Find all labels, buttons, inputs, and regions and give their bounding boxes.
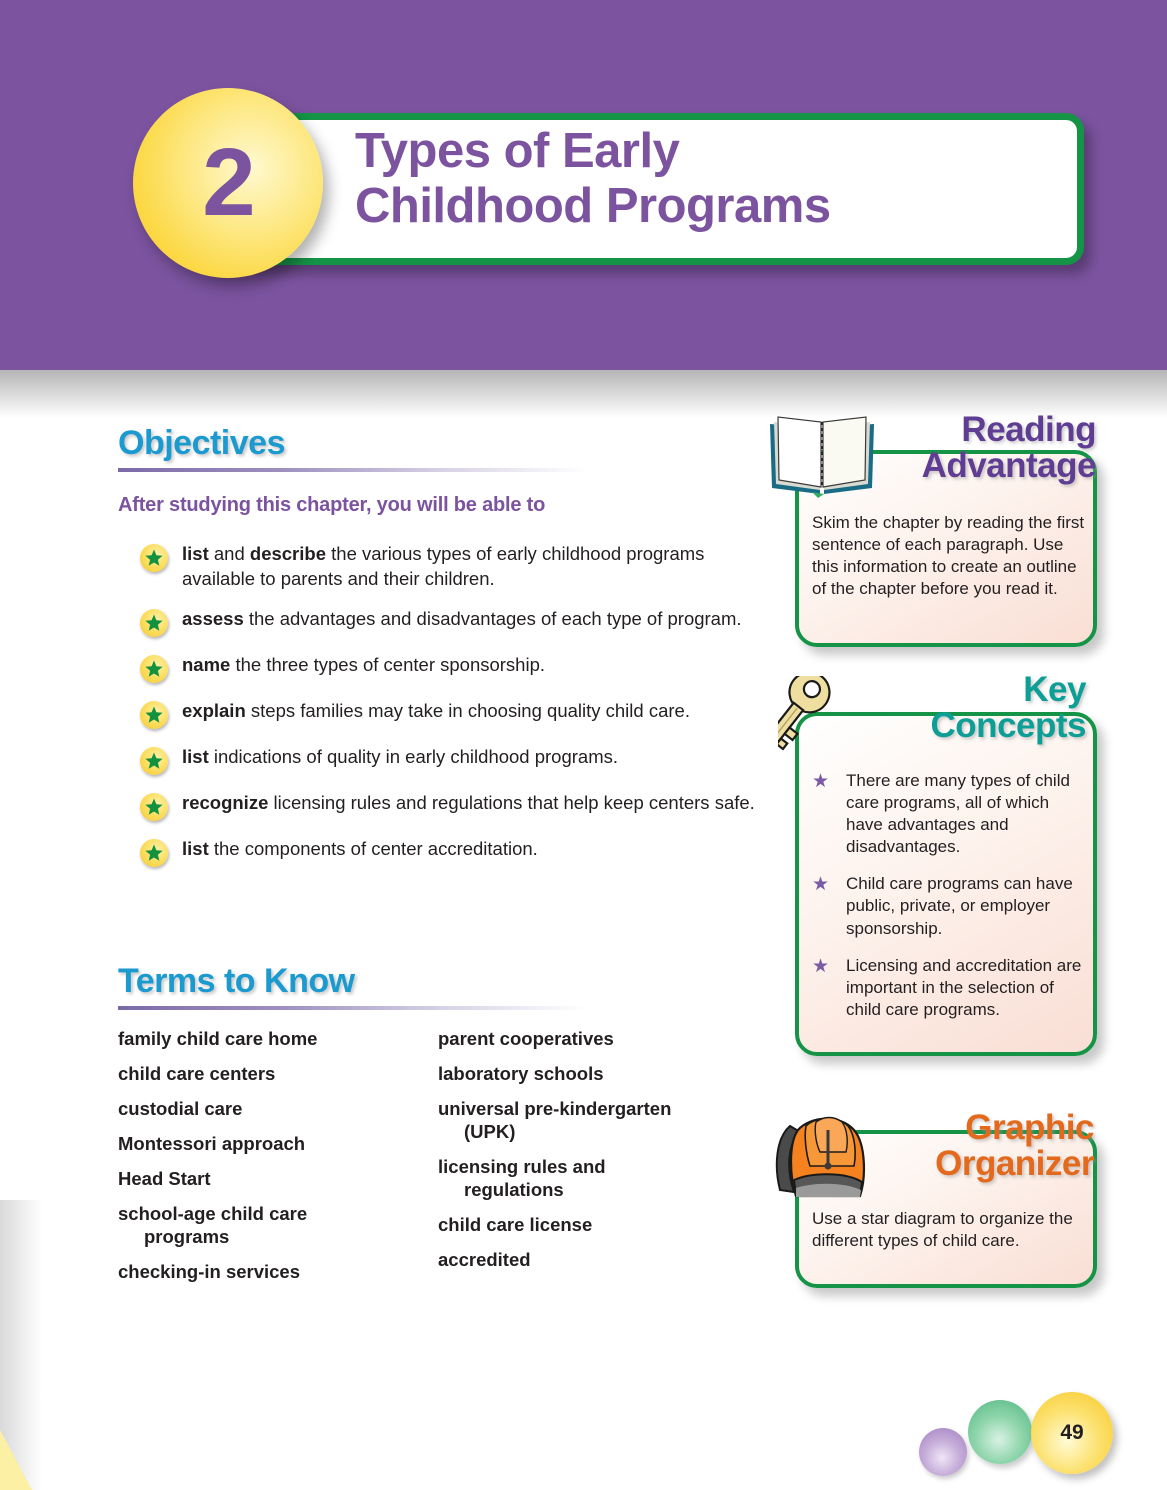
objective-item: list and describe the various types of e… <box>140 542 770 591</box>
term-item: accredited <box>438 1249 738 1272</box>
star-bullet-icon <box>140 655 168 683</box>
term-label: Head Start <box>118 1168 211 1189</box>
objective-body: indications of quality in early childhoo… <box>209 746 618 767</box>
objective-keyword: recognize <box>182 792 268 813</box>
objective-body: licensing rules and regulations that hel… <box>268 792 754 813</box>
objective-keyword: explain <box>182 700 246 721</box>
term-label: licensing rules and <box>438 1156 606 1177</box>
objective-conjunction: and <box>209 543 250 564</box>
star-icon: ★ <box>812 955 846 1021</box>
term-item: child care license <box>438 1214 738 1237</box>
term-label: school-age child care <box>118 1203 307 1224</box>
key-concepts-list: ★ There are many types of child care pro… <box>812 770 1090 1036</box>
objectives-heading: Objectives <box>118 424 588 463</box>
key-concepts-title-line-2: Concepts <box>838 708 1086 744</box>
objective-body: the advantages and disadvantages of each… <box>244 608 742 629</box>
star-bullet-icon <box>140 839 168 867</box>
key-concept-text: Licensing and accreditation are importan… <box>846 955 1090 1021</box>
objectives-section-header: Objectives <box>118 424 588 472</box>
term-item: universal pre-kindergarten(UPK) <box>438 1098 738 1144</box>
objective-keyword: list <box>182 746 209 767</box>
term-item: licensing rules andregulations <box>438 1156 738 1202</box>
star-bullet-icon <box>140 609 168 637</box>
term-label: child care centers <box>118 1063 275 1084</box>
objective-item: explain steps families may take in choos… <box>140 699 770 729</box>
backpack-icon <box>766 1100 884 1217</box>
objective-text: name the three types of center sponsorsh… <box>182 653 545 683</box>
objectives-list: list and describe the various types of e… <box>140 542 770 883</box>
terms-column-right: parent cooperatives laboratory schools u… <box>438 1028 738 1296</box>
key-concept-item: ★ Child care programs can have public, p… <box>812 873 1090 939</box>
terms-heading-rule <box>118 1006 588 1010</box>
term-label: accredited <box>438 1249 531 1270</box>
term-item: child care centers <box>118 1063 438 1086</box>
term-label: laboratory schools <box>438 1063 604 1084</box>
objective-keyword: list <box>182 838 209 859</box>
objectives-intro: After studying this chapter, you will be… <box>118 494 545 517</box>
objective-body: the components of center accreditation. <box>209 838 538 859</box>
reading-advantage-body: Skim the chapter by reading the first se… <box>812 512 1092 600</box>
term-label: family child care home <box>118 1028 317 1049</box>
key-concepts-title-line-1: Key <box>838 672 1086 708</box>
key-concepts-title: Key Concepts <box>838 672 1086 743</box>
objective-text: assess the advantages and disadvantages … <box>182 607 742 637</box>
term-item: parent cooperatives <box>438 1028 738 1051</box>
decorative-ball-green <box>968 1400 1032 1464</box>
chapter-title-line-2: Childhood Programs <box>355 179 831 234</box>
terms-heading: Terms to Know <box>118 962 588 1001</box>
objective-text: list the components of center accreditat… <box>182 837 538 867</box>
key-concept-text: Child care programs can have public, pri… <box>846 873 1090 939</box>
objective-keyword: assess <box>182 608 244 629</box>
terms-section-header: Terms to Know <box>118 962 588 1010</box>
objective-item: name the three types of center sponsorsh… <box>140 653 770 683</box>
terms-columns: family child care home child care center… <box>118 1028 738 1296</box>
term-label: custodial care <box>118 1098 242 1119</box>
objective-text: recognize licensing rules and regulation… <box>182 791 755 821</box>
term-item: custodial care <box>118 1098 438 1121</box>
term-label: checking-in services <box>118 1261 300 1282</box>
term-item: laboratory schools <box>438 1063 738 1086</box>
objective-body: steps families may take in choosing qual… <box>246 700 690 721</box>
star-bullet-icon <box>140 793 168 821</box>
chapter-title: Types of Early Childhood Programs <box>355 124 831 234</box>
objective-text: list indications of quality in early chi… <box>182 745 618 775</box>
page-number: 49 <box>1060 1421 1083 1445</box>
objective-item: list indications of quality in early chi… <box>140 745 770 775</box>
term-label-continued: programs <box>118 1226 438 1249</box>
term-label: child care license <box>438 1214 592 1235</box>
objective-keyword: name <box>182 654 230 675</box>
objectives-heading-rule <box>118 468 588 472</box>
key-concept-item: ★ Licensing and accreditation are import… <box>812 955 1090 1021</box>
term-label-continued: regulations <box>438 1179 738 1202</box>
star-bullet-icon <box>140 701 168 729</box>
objective-item: list the components of center accreditat… <box>140 837 770 867</box>
objective-item: assess the advantages and disadvantages … <box>140 607 770 637</box>
key-concept-text: There are many types of child care progr… <box>846 770 1090 858</box>
term-item: school-age child careprograms <box>118 1203 438 1249</box>
objective-keyword: list <box>182 543 209 564</box>
objective-item: recognize licensing rules and regulation… <box>140 791 770 821</box>
terms-column-left: family child care home child care center… <box>118 1028 438 1296</box>
open-book-icon <box>766 404 878 505</box>
decorative-ball-yellow: 49 <box>1031 1392 1113 1474</box>
star-bullet-icon <box>140 544 168 572</box>
term-item: family child care home <box>118 1028 438 1051</box>
star-bullet-icon <box>140 747 168 775</box>
key-icon <box>778 676 870 785</box>
term-item: Head Start <box>118 1168 438 1191</box>
term-item: Montessori approach <box>118 1133 438 1156</box>
objective-keyword-2: describe <box>250 543 326 564</box>
star-icon: ★ <box>812 873 846 939</box>
chapter-title-line-1: Types of Early <box>355 124 831 179</box>
decorative-ball-purple <box>919 1428 967 1476</box>
objective-text: explain steps families may take in choos… <box>182 699 690 729</box>
chapter-number: 2 <box>202 135 253 231</box>
term-label: universal pre-kindergarten <box>438 1098 671 1119</box>
term-label-continued: (UPK) <box>438 1121 738 1144</box>
term-label: Montessori approach <box>118 1133 305 1154</box>
objective-body: the three types of center sponsorship. <box>230 654 545 675</box>
term-label: parent cooperatives <box>438 1028 614 1049</box>
chapter-number-disc: 2 <box>133 88 323 278</box>
objective-text: list and describe the various types of e… <box>182 542 770 591</box>
term-item: checking-in services <box>118 1261 438 1284</box>
